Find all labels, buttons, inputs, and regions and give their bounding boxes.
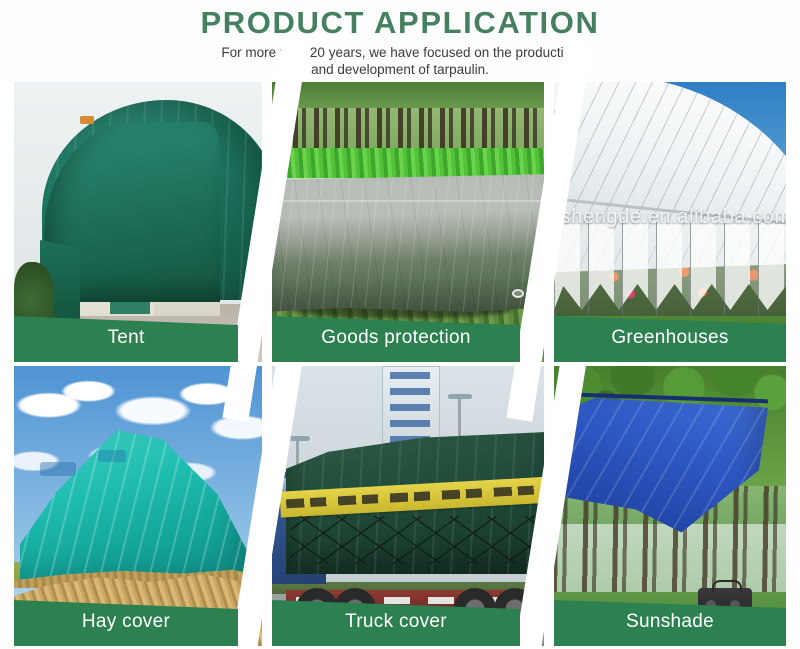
page-title: PRODUCT APPLICATION — [0, 0, 800, 40]
billboard-text — [390, 372, 430, 448]
row-edge-left — [0, 82, 14, 362]
label-text-sunshade: Sunshade — [554, 611, 786, 635]
label-banner-sunshade: Sunshade — [554, 600, 786, 646]
branding-band-text — [286, 485, 544, 509]
row-edge-right — [786, 82, 800, 362]
subtitle-line-1: For more than 20 years, we have focused … — [170, 44, 630, 61]
tarp-print-mark-secondary — [98, 450, 126, 462]
tree-canopy — [272, 82, 544, 108]
greenhouse-support-poles — [554, 220, 786, 330]
label-text-tent: Tent — [14, 327, 238, 351]
row-edge-left — [0, 366, 14, 646]
row-edge-right — [786, 366, 800, 646]
cargo-rope-net — [290, 516, 544, 564]
grass-strip — [272, 148, 544, 178]
label-text-hay-cover: Hay cover — [14, 611, 238, 635]
label-banner-greenhouses: Greenhouses — [554, 316, 786, 362]
tarp-folds — [272, 174, 544, 312]
header: PRODUCT APPLICATION For more than 20 yea… — [0, 0, 800, 82]
tarp-eyelet — [512, 289, 524, 298]
product-application-banner: PRODUCT APPLICATION For more than 20 yea… — [0, 0, 800, 649]
street-lamp-head-secondary — [288, 436, 310, 441]
application-gallery: yshengde.en.alibaba.com Tent Goods prote… — [0, 82, 800, 649]
gallery-row-top: yshengde.en.alibaba.com Tent Goods prote… — [0, 82, 800, 362]
tarp-print-mark — [40, 462, 76, 476]
gallery-row-bottom: Hay cover Truck cover Sunshade — [0, 366, 800, 646]
canopy-tag — [80, 116, 94, 124]
grey-tarpaulin — [272, 174, 544, 312]
tarp-seam — [272, 200, 544, 202]
watermark-text: yshengde.en.alibaba.com — [554, 206, 786, 229]
label-text-goods-protection: Goods protection — [272, 327, 520, 351]
label-text-greenhouses: Greenhouses — [554, 327, 786, 351]
label-text-truck-cover: Truck cover — [272, 611, 520, 635]
street-lamp-head — [448, 394, 472, 399]
